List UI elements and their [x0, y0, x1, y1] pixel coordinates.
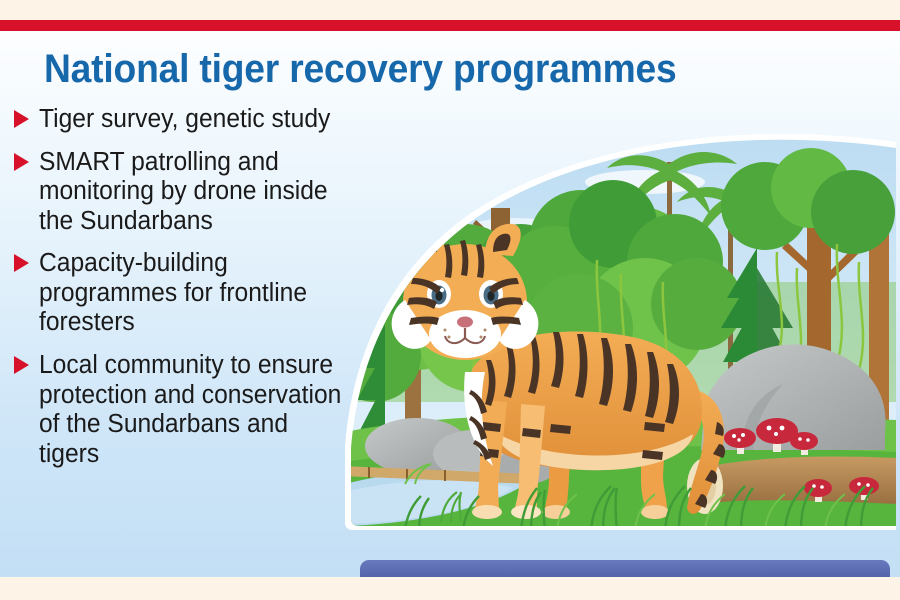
triangle-right-icon — [14, 254, 29, 272]
list-item: Capacity-building programmes for frontli… — [10, 249, 360, 338]
list-item: Tiger survey, genetic study — [10, 105, 360, 135]
list-item-label: SMART patrolling and monitoring by drone… — [39, 148, 348, 237]
list-item-label: Capacity-building programmes for frontli… — [39, 249, 348, 338]
list-item: SMART patrolling and monitoring by drone… — [10, 148, 360, 237]
jungle-tiger-illustration — [345, 132, 896, 530]
list-item: Local community to ensure protection and… — [10, 351, 360, 469]
top-cream-band — [0, 0, 900, 20]
top-red-rule — [0, 20, 900, 31]
triangle-right-icon — [14, 356, 29, 374]
list-item-label: Tiger survey, genetic study — [39, 105, 330, 135]
infographic-poster: National tiger recovery programmes Tiger… — [0, 0, 900, 600]
triangle-right-icon — [14, 153, 29, 171]
bottom-cream-band — [0, 577, 900, 600]
list-item-label: Local community to ensure protection and… — [39, 351, 348, 469]
triangle-right-icon — [14, 110, 29, 128]
bullet-list: Tiger survey, genetic study SMART patrol… — [10, 105, 360, 482]
page-title: National tiger recovery programmes — [44, 47, 677, 92]
